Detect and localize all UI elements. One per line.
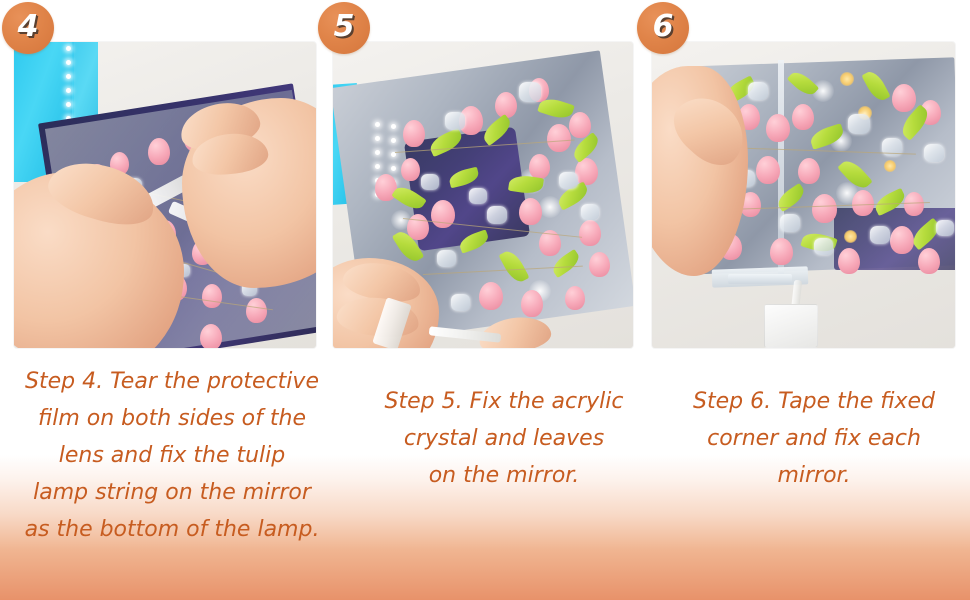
tulip-bud	[547, 124, 571, 152]
tulip-bud	[202, 284, 222, 308]
photo-scene-4	[14, 42, 316, 348]
step-badge-6-number: 6	[653, 12, 674, 42]
battery-pack	[764, 304, 818, 348]
tulip-bud	[852, 190, 874, 216]
tulip-bud	[904, 192, 924, 216]
instruction-page: 4 5 6 Step 4. Tear the protective film o…	[0, 0, 970, 600]
step-photo-5	[333, 42, 633, 348]
warm-led-dot	[884, 160, 896, 172]
acrylic-crystal	[748, 82, 768, 100]
acrylic-crystal	[814, 238, 833, 255]
tulip-bud	[521, 290, 543, 317]
tulip-bud	[770, 238, 793, 265]
photo-scene-5	[333, 42, 633, 348]
tulip-bud	[838, 248, 860, 274]
acrylic-crystal	[924, 144, 944, 162]
acrylic-crystal	[559, 172, 578, 189]
tulip-bud	[589, 252, 610, 277]
acrylic-crystal	[936, 220, 954, 236]
acrylic-crystal	[581, 204, 599, 220]
acrylic-stand-foot	[728, 274, 792, 284]
tulip-bud	[529, 154, 550, 179]
tulip-bud	[890, 226, 914, 254]
acrylic-crystal	[848, 114, 870, 134]
step-badge-6: 6	[637, 2, 689, 54]
step-photo-6	[652, 42, 955, 348]
tulip-bud	[918, 248, 940, 274]
tulip-bud	[766, 114, 790, 142]
step-badge-4: 4	[2, 2, 54, 54]
acrylic-crystal	[870, 226, 890, 244]
tulip-bud	[579, 220, 601, 246]
step-badge-5-number: 5	[334, 12, 355, 42]
tulip-bud	[792, 104, 814, 130]
led-glow	[539, 196, 561, 218]
tulip-bud	[892, 84, 916, 112]
acrylic-crystal	[487, 206, 507, 224]
acrylic-crystal	[519, 82, 541, 102]
acrylic-crystal	[421, 174, 439, 190]
tulip-bud	[148, 138, 170, 165]
tulip-bud	[569, 112, 591, 138]
tulip-bud	[403, 120, 425, 147]
step-badge-5: 5	[318, 2, 370, 54]
step-caption-4: Step 4. Tear the protective film on both…	[0, 363, 344, 548]
tulip-bud	[756, 156, 780, 184]
tulip-bud	[200, 324, 222, 348]
tulip-bud	[519, 198, 542, 225]
step-caption-5: Step 5. Fix the acrylic crystal and leav…	[348, 383, 660, 494]
photo-scene-6	[652, 42, 955, 348]
acrylic-crystal	[445, 112, 465, 130]
tulip-bud	[495, 92, 517, 118]
tulip-bud	[798, 158, 820, 184]
warm-led-dot	[844, 230, 857, 243]
acrylic-crystal	[780, 214, 800, 232]
step-badge-4-number: 4	[18, 12, 39, 42]
tulip-bud	[565, 286, 585, 310]
tulip-bud	[479, 282, 503, 310]
warm-led-dot	[840, 72, 854, 86]
tulip-bud	[401, 158, 420, 181]
acrylic-crystal	[451, 294, 470, 311]
acrylic-crystal	[437, 250, 456, 267]
tulip-bud	[812, 194, 837, 223]
step-caption-6: Step 6. Tape the fixed corner and fix ea…	[668, 383, 960, 494]
acrylic-crystal	[469, 188, 487, 204]
step-photo-4	[14, 42, 316, 348]
tulip-bud	[246, 298, 267, 323]
